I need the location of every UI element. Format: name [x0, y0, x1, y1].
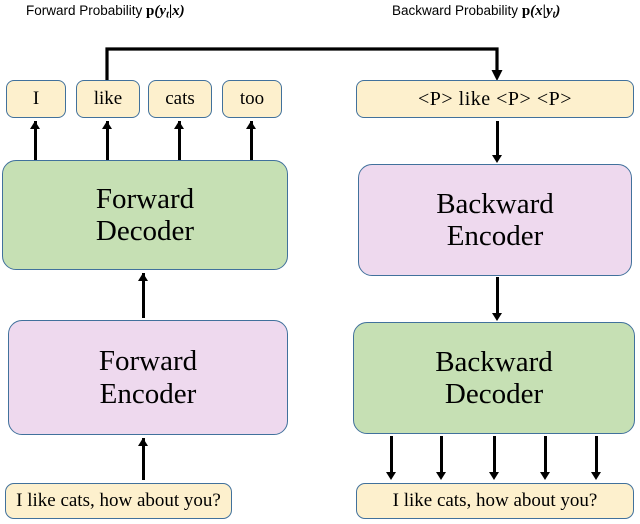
- diagram-canvas: Forward Probability p(yt|x) Backward Pro…: [0, 0, 640, 524]
- forward-decoder-line1: Forward: [96, 183, 194, 215]
- arrow-backward-decoder-to-output-0: [390, 436, 394, 480]
- arrow-left-input-to-encoder: [142, 438, 146, 480]
- backward-decoder-line1: Backward: [435, 346, 553, 378]
- arrow-forward-encoder-to-decoder: [142, 273, 146, 318]
- left-input-sentence-text: I like cats, how about you?: [16, 490, 221, 511]
- forward-probability-label: Forward Probability: [26, 3, 146, 18]
- arrow-head: [138, 438, 148, 446]
- forward-probability-title: Forward Probability p(yt|x): [26, 4, 185, 21]
- forward-encoder-line1: Forward: [99, 345, 197, 377]
- arrow-head: [246, 121, 256, 129]
- arrow-shaft: [496, 277, 499, 313]
- forward-token-box-1[interactable]: like: [76, 80, 140, 118]
- backward-probability-label: Backward Probability: [392, 3, 522, 18]
- arrow-head: [30, 121, 40, 129]
- arrow-backward-decoder-to-output-2: [493, 436, 497, 480]
- forward-token-label-1: like: [94, 88, 123, 109]
- forward-token-label-2: cats: [165, 88, 195, 109]
- arrow-decoder-to-token-3: [250, 121, 254, 160]
- arrow-backward-decoder-to-output-4: [595, 436, 599, 480]
- right-output-sentence-box[interactable]: I like cats, how about you?: [356, 483, 634, 519]
- connector-path: [107, 49, 497, 80]
- forward-encoder-box[interactable]: Forward Encoder: [8, 320, 288, 435]
- backward-encoder-line2: Encoder: [436, 220, 554, 252]
- arrow-backward-decoder-to-output-3: [544, 436, 548, 480]
- arrow-head: [102, 121, 112, 129]
- arrow-head: [174, 121, 184, 129]
- arrow-backward-decoder-to-output-1: [440, 436, 444, 480]
- arrow-head: [436, 472, 446, 480]
- arrow-decoder-to-token-1: [106, 121, 110, 160]
- arrow-shaft: [440, 436, 443, 472]
- forward-token-box-0[interactable]: I: [6, 80, 66, 118]
- backward-encoder-box[interactable]: Backward Encoder: [358, 164, 632, 276]
- arrow-head: [386, 472, 396, 480]
- backward-token-sequence-text: <P> like <P> <P>: [418, 88, 572, 110]
- backward-token-sequence-box[interactable]: <P> like <P> <P>: [356, 80, 634, 118]
- forward-encoder-text: Forward Encoder: [99, 345, 197, 410]
- arrow-shaft: [595, 436, 598, 472]
- arrow-shaft: [390, 436, 393, 472]
- arrow-shaft: [493, 436, 496, 472]
- arrow-head: [591, 472, 601, 480]
- forward-token-box-3[interactable]: too: [222, 80, 282, 118]
- forward-probability-formula: p(yt|x): [146, 3, 185, 19]
- backward-decoder-text: Backward Decoder: [435, 346, 553, 411]
- backward-decoder-line2: Decoder: [435, 378, 553, 410]
- arrow-head: [489, 472, 499, 480]
- left-input-sentence-box[interactable]: I like cats, how about you?: [5, 483, 232, 519]
- arrow-backward-encoder-to-decoder: [496, 277, 500, 321]
- backward-probability-formula: p(x|yt): [522, 3, 561, 19]
- forward-decoder-box[interactable]: Forward Decoder: [2, 160, 288, 270]
- arrow-shaft: [544, 436, 547, 472]
- arrow-sequence-to-backward-encoder: [496, 121, 500, 163]
- right-output-sentence-text: I like cats, how about you?: [393, 490, 598, 511]
- forward-token-label-0: I: [33, 88, 39, 109]
- forward-encoder-line2: Encoder: [99, 378, 197, 410]
- backward-decoder-box[interactable]: Backward Decoder: [353, 322, 635, 434]
- arrow-head: [540, 472, 550, 480]
- backward-encoder-line1: Backward: [436, 188, 554, 220]
- forward-token-box-2[interactable]: cats: [148, 80, 212, 118]
- backward-encoder-text: Backward Encoder: [436, 188, 554, 253]
- arrow-shaft: [496, 121, 499, 155]
- arrow-head: [138, 273, 148, 281]
- arrow-decoder-to-token-2: [178, 121, 182, 160]
- arrow-head: [492, 313, 502, 321]
- forward-decoder-text: Forward Decoder: [96, 183, 194, 248]
- forward-decoder-line2: Decoder: [96, 215, 194, 247]
- forward-token-label-3: too: [240, 88, 264, 109]
- arrow-head: [492, 155, 502, 163]
- backward-probability-title: Backward Probability p(x|yt): [392, 4, 560, 21]
- arrow-decoder-to-token-0: [34, 121, 38, 160]
